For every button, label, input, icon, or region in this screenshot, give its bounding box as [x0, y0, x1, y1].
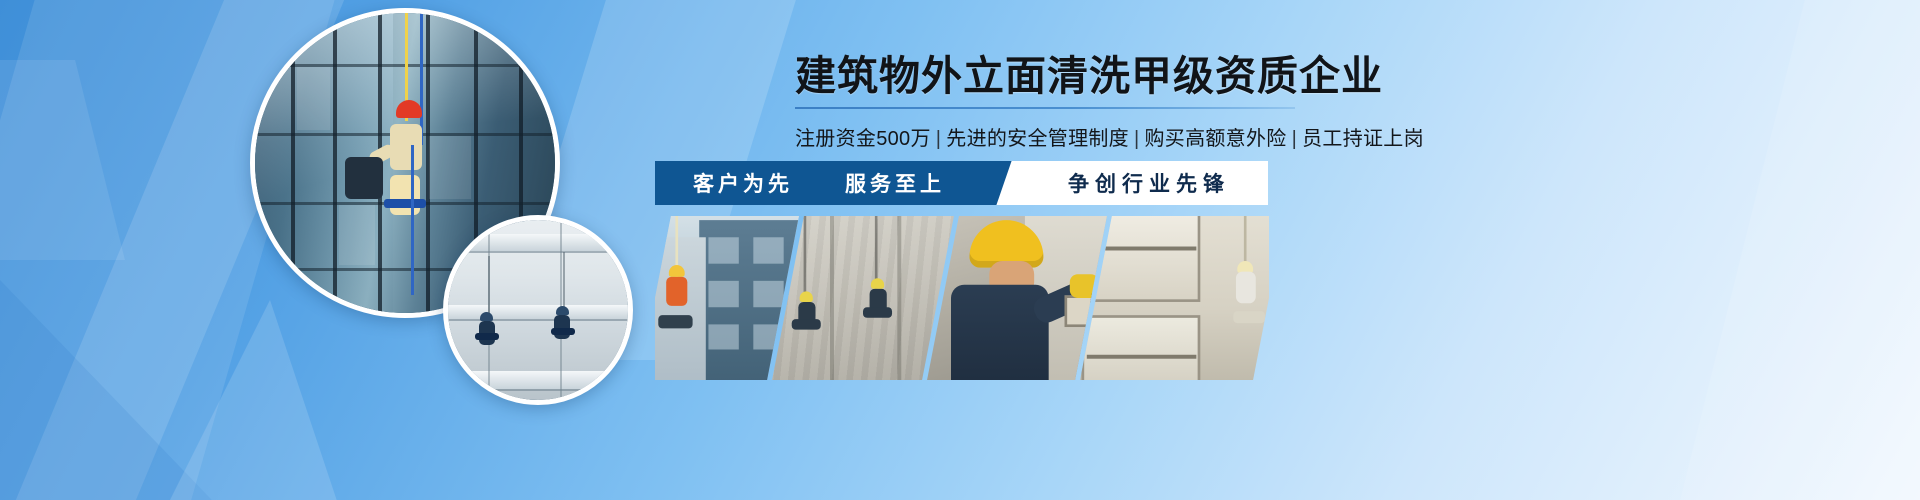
headline: 建筑物外立面清洗甲级资质企业 — [795, 52, 1295, 100]
slogan-dark-section: 客户为先 服务至上 — [655, 161, 1020, 205]
background-shape-6 — [0, 60, 125, 260]
photo-worker-plastering-closeup — [927, 216, 1107, 380]
photo-strip — [655, 216, 1269, 380]
headline-divider — [795, 107, 1295, 109]
background-shape-7 — [1665, 0, 1920, 500]
slogan-bar: 客户为先 服务至上 争创行业先锋 — [655, 161, 1268, 205]
subtitle-part-4: 员工持证上岗 — [1302, 128, 1424, 150]
photo-workers-rappelling-concrete-wall — [772, 216, 954, 380]
photo-grey-facade-two-workers — [443, 215, 633, 405]
slogan-light-section: 争创行业先锋 — [1020, 161, 1268, 205]
background-shape-4 — [150, 300, 350, 500]
subtitle-part-3: 购买高额意外险 — [1144, 128, 1286, 150]
slogan-industry-pioneer: 争创行业先锋 — [1058, 168, 1230, 198]
promo-banner: 建筑物外立面清洗甲级资质企业 注册资金500万|先进的安全管理制度|购买高额意外… — [0, 0, 1920, 500]
banner-text-block: 建筑物外立面清洗甲级资质企业 注册资金500万|先进的安全管理制度|购买高额意外… — [795, 52, 1295, 151]
subtitle-separator-3: | — [1287, 128, 1303, 150]
subtitle: 注册资金500万|先进的安全管理制度|购买高额意外险|员工持证上岗 — [795, 122, 1295, 151]
subtitle-separator-2: | — [1129, 128, 1145, 150]
subtitle-part-1: 注册资金500万 — [795, 128, 931, 150]
subtitle-part-2: 先进的安全管理制度 — [946, 128, 1129, 150]
subtitle-separator-1: | — [931, 128, 947, 150]
slogan-service-supreme: 服务至上 — [845, 168, 945, 198]
slogan-customer-first: 客户为先 — [693, 168, 793, 198]
background-shape-3 — [0, 250, 260, 500]
photo-worker-on-balcony-rope — [1080, 216, 1269, 380]
